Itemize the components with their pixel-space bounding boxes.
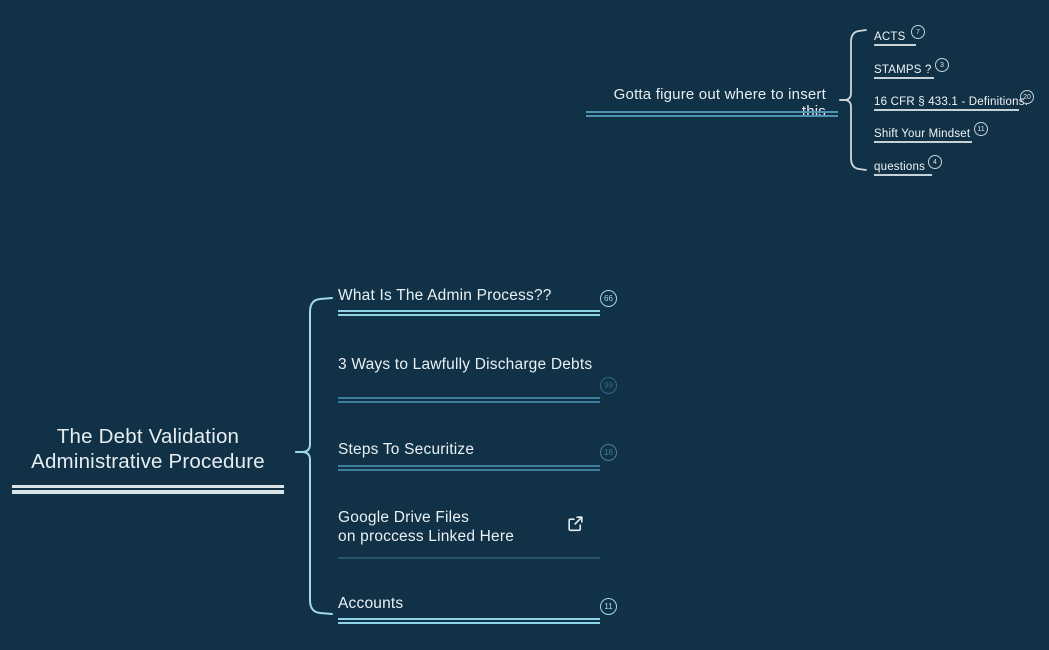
top-node-underline — [586, 111, 838, 118]
branch-item-discharge-debts[interactable]: 3 Ways to Lawfully Discharge Debts 99 — [338, 355, 608, 374]
sub-item-acts[interactable]: ACTS 7 — [874, 27, 905, 45]
sub-item-label: questions — [874, 161, 925, 173]
sub-item-underline — [874, 141, 972, 143]
branch-item-label: What Is The Admin Process?? — [338, 286, 608, 305]
root-node[interactable]: The Debt Validation Administrative Proce… — [0, 424, 296, 474]
sub-item-count-badge: 4 — [928, 155, 942, 169]
sub-item-stamps[interactable]: STAMPS ? 3 — [874, 60, 932, 78]
sub-item-questions[interactable]: questions 4 — [874, 157, 925, 175]
branch-item-count-badge: 11 — [600, 598, 617, 615]
branch-item-count-badge: 99 — [600, 377, 617, 394]
branch-item-admin-process[interactable]: What Is The Admin Process?? 66 — [338, 286, 608, 305]
branch-item-label: 3 Ways to Lawfully Discharge Debts — [338, 355, 608, 374]
sub-item-underline — [874, 44, 916, 46]
root-node-label: The Debt Validation Administrative Proce… — [0, 424, 296, 474]
sub-item-count-badge: 3 — [935, 58, 949, 72]
sub-item-count-badge: 20 — [1020, 90, 1034, 104]
branch-item-label: Accounts — [338, 594, 608, 613]
sub-item-label: ACTS — [874, 31, 905, 43]
sub-item-underline — [874, 109, 1019, 111]
sub-item-shift-your-mindset[interactable]: Shift Your Mindset 11 — [874, 124, 970, 142]
sub-item-underline — [874, 174, 932, 176]
sub-item-count-badge: 11 — [974, 122, 988, 136]
external-link-icon[interactable] — [566, 514, 585, 538]
branch-item-count-badge: 16 — [600, 444, 617, 461]
sub-item-label: STAMPS ? — [874, 64, 932, 76]
branch-item-steps-to-securitize[interactable]: Steps To Securitize 16 — [338, 440, 608, 459]
mindmap-canvas: The Debt Validation Administrative Proce… — [0, 0, 1049, 650]
root-node-underline — [12, 485, 284, 494]
branch-item-google-drive-files[interactable]: Google Drive Files on proccess Linked He… — [338, 508, 608, 546]
branch-item-label: Steps To Securitize — [338, 440, 608, 459]
top-node-insert-note[interactable]: Gotta figure out where to insert this — [586, 86, 842, 120]
branch-item-count-badge: 66 — [600, 290, 617, 307]
sub-item-16-cfr-433-1[interactable]: 16 CFR § 433.1 - Definitions. 20 — [874, 92, 1028, 110]
sub-item-count-badge: 7 — [911, 25, 925, 39]
sub-item-underline — [874, 77, 934, 79]
sub-item-label: Shift Your Mindset — [874, 128, 970, 140]
sub-item-label: 16 CFR § 433.1 - Definitions. — [874, 96, 1028, 108]
branch-item-accounts[interactable]: Accounts 11 — [338, 594, 608, 613]
